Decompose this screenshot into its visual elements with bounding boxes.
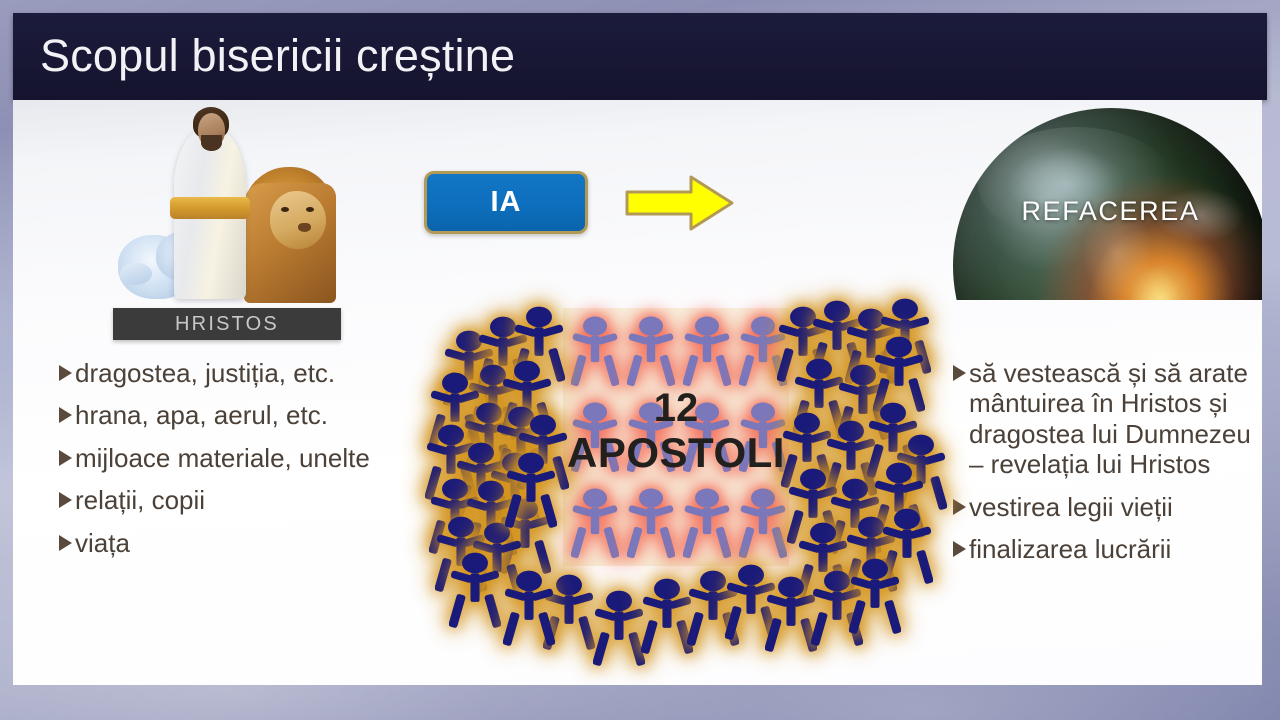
list-item: să vestească și să arate mântuirea în Hr…: [953, 358, 1262, 480]
lion-eye-right-icon: [306, 207, 314, 212]
ia-box[interactable]: IA: [424, 171, 588, 234]
apostle-figure: [627, 314, 675, 391]
list-item-label: finalizarea lucrării: [969, 534, 1262, 564]
list-item-label: mijloace materiale, unelte: [75, 443, 389, 473]
list-item: finalizarea lucrării: [953, 534, 1262, 564]
apostle-figure: [683, 400, 731, 477]
list-item-label: să vestească și să arate mântuirea în Hr…: [969, 358, 1262, 480]
list-item-label: relații, copii: [75, 485, 389, 515]
apostle-figure: [739, 400, 787, 477]
right-bullet-list: să vestească și să arate mântuirea în Hr…: [953, 358, 1262, 576]
bullet-triangle-icon: [59, 535, 72, 551]
apostle-figure: [627, 400, 675, 477]
ia-box-label: IA: [491, 186, 522, 219]
left-bullet-list: dragostea, justiția, etc. hrana, apa, ae…: [59, 358, 389, 570]
bullet-triangle-icon: [953, 541, 966, 557]
list-item-label: viața: [75, 528, 389, 558]
list-item: viața: [59, 528, 389, 558]
apostle-figure: [739, 486, 787, 563]
bullet-triangle-icon: [953, 499, 966, 515]
apostle-figure: [571, 314, 619, 391]
hristos-caption-bar: HRISTOS: [113, 308, 341, 340]
refacerea-caption-label: REFACEREA: [948, 196, 1262, 227]
apostle-figure: [683, 486, 731, 563]
people-diagram: 12 APOSTOLI: [425, 300, 935, 685]
bullet-triangle-icon: [59, 365, 72, 381]
list-item: relații, copii: [59, 485, 389, 515]
crowd-figure: [505, 450, 557, 533]
list-item: dragostea, justiția, etc.: [59, 358, 389, 388]
apostle-figure: [627, 486, 675, 563]
slide-frame: Scopul bisericii creștine HRISTOS IA: [0, 0, 1280, 720]
right-arrow-icon: [625, 172, 735, 234]
list-item-label: hrana, apa, aerul, etc.: [75, 400, 389, 430]
list-item: hrana, apa, aerul, etc.: [59, 400, 389, 430]
lion-nose-icon: [298, 223, 311, 232]
crowd-figure: [641, 576, 693, 659]
bullet-triangle-icon: [953, 365, 966, 381]
list-item-label: dragostea, justiția, etc.: [75, 358, 389, 388]
list-item: mijloace materiale, unelte: [59, 443, 389, 473]
bullet-triangle-icon: [59, 492, 72, 508]
crowd-figure: [593, 588, 645, 671]
list-item: vestirea legii vieții: [953, 492, 1262, 522]
apostle-figure: [571, 400, 619, 477]
globe-illustration: REFACEREA: [948, 100, 1262, 300]
bullet-triangle-icon: [59, 407, 72, 423]
crowd-figure: [503, 568, 555, 651]
christ-beard-icon: [201, 135, 222, 151]
crowd-figure: [449, 550, 501, 633]
hristos-caption-label: HRISTOS: [175, 313, 279, 336]
crowd-figure: [849, 556, 901, 639]
list-item-label: vestirea legii vieții: [969, 492, 1262, 522]
slide-content-area: HRISTOS IA REFACEREA dragostea, justiția…: [13, 100, 1262, 685]
apostle-figure: [683, 314, 731, 391]
christ-sash-icon: [170, 197, 250, 219]
apostle-figure: [571, 486, 619, 563]
lion-eye-left-icon: [281, 207, 289, 212]
lion-face-icon: [270, 191, 326, 249]
page-title: Scopul bisericii creștine: [40, 29, 515, 81]
bullet-triangle-icon: [59, 450, 72, 466]
title-banner: Scopul bisericii creștine: [13, 13, 1267, 100]
christ-illustration: [118, 105, 343, 320]
crowd-figure: [765, 574, 817, 657]
